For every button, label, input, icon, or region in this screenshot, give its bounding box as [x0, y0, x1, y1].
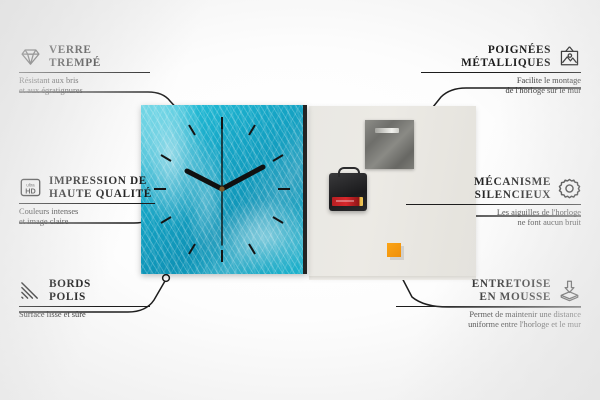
arrow-down-pad-icon: [558, 279, 581, 302]
callout-title: ENTRETOISE EN MOUSSE: [472, 278, 551, 303]
callout-rule: [19, 306, 150, 307]
callout-impression-haute-qualite: ultra HD IMPRESSION DE HAUTE QUALITÉ Cou…: [19, 175, 169, 228]
clock-center-pin: [219, 186, 224, 191]
metal-hanger-plate: [365, 120, 414, 169]
clock-minute-hand: [222, 167, 263, 189]
polished-edge-icon: [19, 279, 42, 302]
foam-spacer: [387, 243, 401, 257]
callout-title: BORDS POLIS: [49, 278, 91, 303]
callout-rule: [19, 72, 150, 73]
ultra-hd-icon: ultra HD: [19, 176, 42, 199]
framed-picture-hook-icon: [558, 45, 581, 68]
infographic-canvas: VERRE TREMPÉ Résistant aux bris et aux é…: [0, 0, 600, 400]
clock-hour-hand: [187, 171, 222, 189]
callout-title: IMPRESSION DE HAUTE QUALITÉ: [49, 175, 152, 200]
callout-mecanisme-silencieux: MÉCANISME SILENCIEUX Les aiguilles de l'…: [406, 176, 581, 229]
callout-title: VERRE TREMPÉ: [49, 44, 101, 69]
callout-poignees-metalliques: POIGNÉES MÉTALLIQUES Facilite le montage…: [421, 44, 581, 97]
callout-rule: [406, 204, 581, 205]
callout-title: MÉCANISME SILENCIEUX: [474, 176, 551, 201]
callout-subtitle: Couleurs intenses et image claire: [19, 207, 169, 227]
callout-rule: [396, 306, 581, 307]
callout-entretoise-en-mousse: ENTRETOISE EN MOUSSE Permet de maintenir…: [396, 278, 581, 331]
callout-subtitle: Facilite le montage de l'horloge sur le …: [421, 76, 581, 96]
callout-bords-polis: BORDS POLIS Surface lisse et sûre: [19, 278, 164, 320]
svg-text:HD: HD: [25, 186, 36, 195]
callout-verre-trempe: VERRE TREMPÉ Résistant aux bris et aux é…: [19, 44, 164, 97]
callout-title: POIGNÉES MÉTALLIQUES: [461, 44, 551, 69]
callout-rule: [421, 72, 581, 73]
clock-mechanism: [329, 173, 367, 211]
callout-subtitle: Permet de maintenir une distance uniform…: [396, 310, 581, 330]
callout-subtitle: Les aiguilles de l'horloge ne font aucun…: [406, 208, 581, 228]
gear-icon: [558, 177, 581, 200]
battery: [332, 197, 363, 206]
diamond-icon: [19, 45, 42, 68]
callout-subtitle: Résistant aux bris et aux égratignures: [19, 76, 164, 96]
callout-rule: [19, 203, 155, 204]
callout-subtitle: Surface lisse et sûre: [19, 310, 164, 320]
